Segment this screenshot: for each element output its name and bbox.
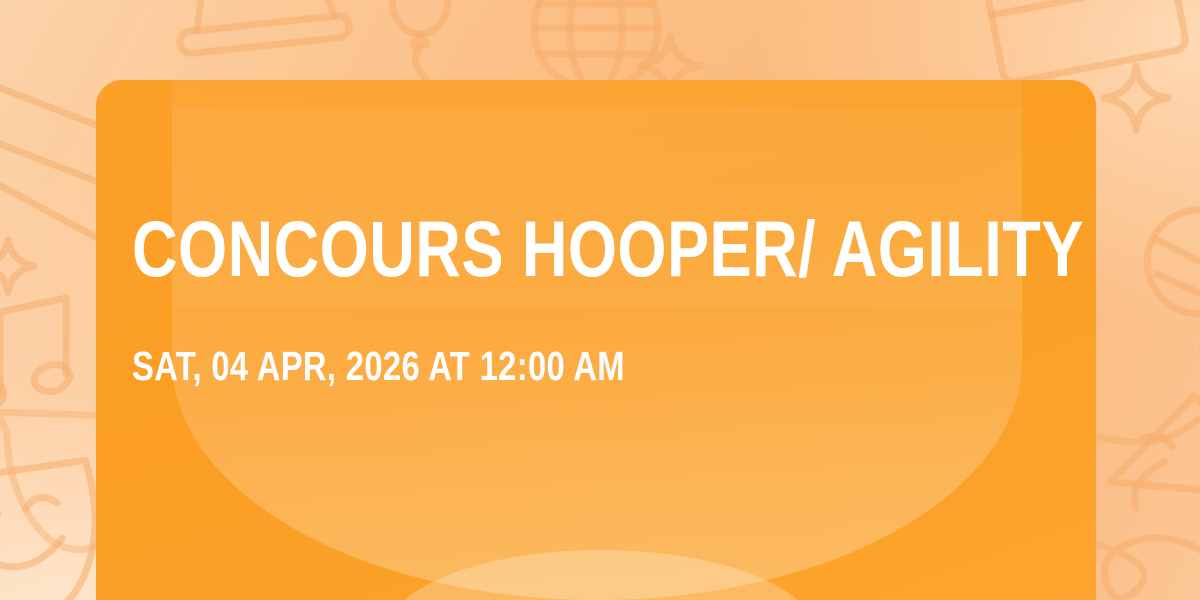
podium-icon	[170, 0, 350, 54]
event-card-content: CONCOURS HOOPER/ AGILITY SAT, 04 APR, 20…	[132, 80, 1062, 600]
event-title: CONCOURS HOOPER/ AGILITY	[132, 206, 1084, 292]
sparkle-icon	[1104, 66, 1168, 130]
clapperboard-icon	[976, 0, 1194, 84]
event-date: SAT, 04 APR, 2026 AT 12:00 AM	[132, 342, 625, 390]
sparkle-icon	[0, 240, 34, 292]
music-note-icon	[0, 298, 73, 413]
event-banner: CONCOURS HOOPER/ AGILITY SAT, 04 APR, 20…	[0, 0, 1200, 600]
event-card[interactable]: CONCOURS HOOPER/ AGILITY SAT, 04 APR, 20…	[96, 80, 1096, 600]
confetti-icon	[1096, 418, 1200, 442]
microphone-icon	[1135, 198, 1200, 425]
globe-icon	[534, 0, 658, 90]
